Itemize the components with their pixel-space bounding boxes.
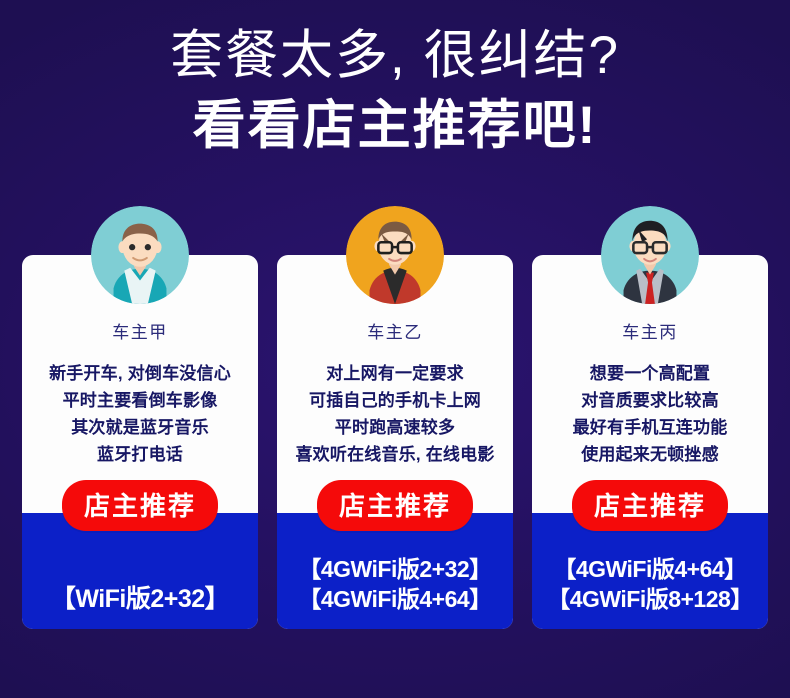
package-label: 【4GWiFi版4+64】: [553, 555, 746, 585]
recommendation-card-1[interactable]: 车主甲 新手开车, 对倒车没信心 平时主要看倒车影像 其次就是蓝牙音乐 蓝牙打电…: [22, 255, 258, 629]
need-item: 对上网有一定要求: [283, 361, 507, 388]
avatar-male-teal-icon: [91, 206, 189, 304]
need-item: 可插自己的手机卡上网: [283, 388, 507, 415]
need-item: 对音质要求比较高: [538, 388, 762, 415]
package-label: 【4GWiFi版2+32】: [298, 555, 491, 585]
page-headline: 套餐太多, 很纠结? 看看店主推荐吧!: [0, 22, 790, 161]
need-item: 平时跑高速较多: [283, 415, 507, 442]
headline-line-1: 套餐太多, 很纠结?: [0, 22, 790, 90]
owner-name-1: 车主甲: [112, 318, 168, 343]
need-item: 使用起来无顿挫感: [538, 442, 762, 469]
owner-recommend-badge-2[interactable]: 店主推荐: [317, 480, 473, 531]
need-item: 其次就是蓝牙音乐: [28, 415, 252, 442]
package-label: 【4GWiFi版4+64】: [298, 585, 491, 615]
package-label: 【WiFi版2+32】: [51, 583, 229, 616]
package-label: 【4GWiFi版8+128】: [547, 585, 753, 615]
need-item: 新手开车, 对倒车没信心: [28, 361, 252, 388]
recommendation-card-row: 车主甲 新手开车, 对倒车没信心 平时主要看倒车影像 其次就是蓝牙音乐 蓝牙打电…: [22, 255, 768, 629]
owner-name-2: 车主乙: [367, 318, 423, 343]
need-item: 喜欢听在线音乐, 在线电影: [283, 442, 507, 469]
needs-list-1: 新手开车, 对倒车没信心 平时主要看倒车影像 其次就是蓝牙音乐 蓝牙打电话: [22, 361, 258, 468]
need-item: 蓝牙打电话: [28, 442, 252, 469]
owner-recommend-badge-3[interactable]: 店主推荐: [572, 480, 728, 531]
owner-recommend-badge-1[interactable]: 店主推荐: [62, 480, 218, 531]
owner-name-3: 车主丙: [622, 318, 678, 343]
need-item: 最好有手机互连功能: [538, 415, 762, 442]
needs-list-2: 对上网有一定要求 可插自己的手机卡上网 平时跑高速较多 喜欢听在线音乐, 在线电…: [277, 361, 513, 468]
recommendation-card-3[interactable]: 车主丙 想要一个高配置 对音质要求比较高 最好有手机互连功能 使用起来无顿挫感 …: [532, 255, 768, 629]
needs-list-3: 想要一个高配置 对音质要求比较高 最好有手机互连功能 使用起来无顿挫感: [532, 361, 768, 468]
avatar-male-suit-teal-icon: [601, 206, 699, 304]
headline-line-2: 看看店主推荐吧!: [0, 92, 790, 161]
need-item: 想要一个高配置: [538, 361, 762, 388]
avatar-male-glasses-orange-icon: [346, 206, 444, 304]
need-item: 平时主要看倒车影像: [28, 388, 252, 415]
recommendation-card-2[interactable]: 车主乙 对上网有一定要求 可插自己的手机卡上网 平时跑高速较多 喜欢听在线音乐,…: [277, 255, 513, 629]
